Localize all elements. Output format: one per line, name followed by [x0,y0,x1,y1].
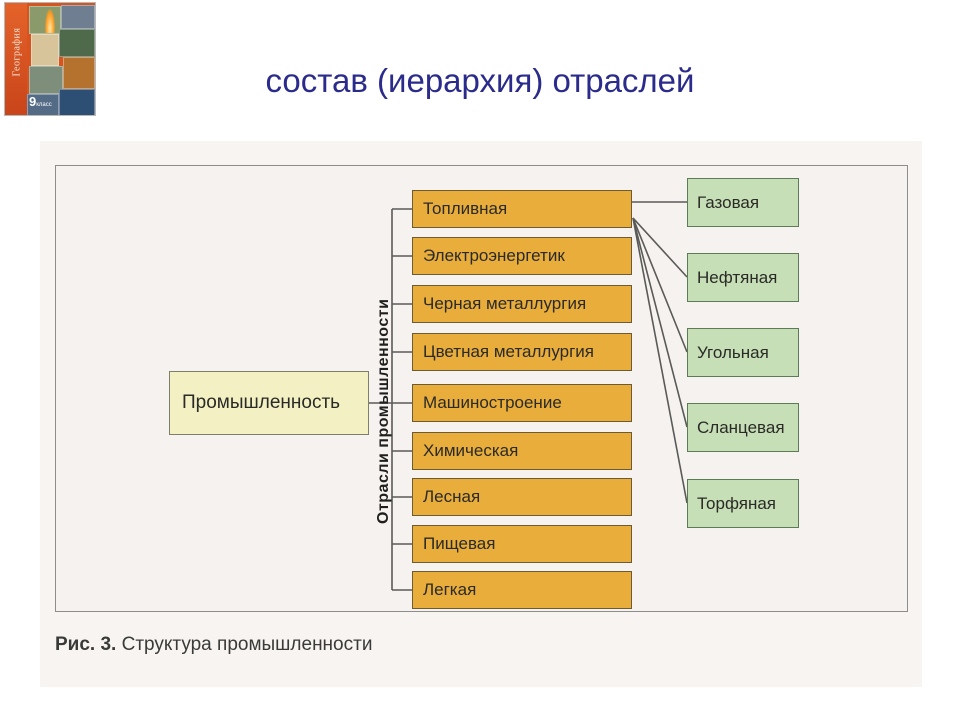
figure-caption-text: Структура промышленности [122,634,373,655]
node-label: Сланцевая [697,418,785,438]
node-label: Легкая [423,580,476,600]
node-label: Лесная [423,487,480,507]
figure-caption: Рис. 3. Структура промышленности [55,634,372,656]
node-label: Электроэнергетик [423,246,565,266]
node-leaf-ugolnaya[interactable]: Угольная [687,328,799,377]
node-leaf-slantsevaya[interactable]: Сланцевая [687,403,799,452]
page-title: состав (иерархия) отраслей [0,62,960,100]
node-leaf-torfyanaya[interactable]: Торфяная [687,479,799,528]
node-label: Нефтяная [697,268,777,288]
node-label: Цветная металлургия [423,342,594,362]
cover-photo-tile [61,5,95,29]
node-branch-khimicheskaya[interactable]: Химическая [412,432,632,470]
industry-structure-diagram: Отрасли промышленности Промышленность То… [56,166,907,611]
node-leaf-neftyanaya[interactable]: Нефтяная [687,253,799,302]
node-label: Черная металлургия [423,294,586,314]
node-label: Промышленность [182,392,340,414]
figure-panel: Отрасли промышленности Промышленность То… [55,165,908,612]
node-promyshlennost[interactable]: Промышленность [169,371,369,435]
node-label: Машиностроение [423,393,562,413]
node-label: Торфяная [697,494,776,514]
node-label: Химическая [423,441,518,461]
node-branch-legkaya[interactable]: Легкая [412,571,632,609]
node-label: Топливная [423,199,507,219]
node-branch-mashinostroenie[interactable]: Машиностроение [412,384,632,422]
axis-label-industry-branches: Отрасли промышленности [371,0,393,224]
node-branch-lesnaya[interactable]: Лесная [412,478,632,516]
figure-scan-area: Отрасли промышленности Промышленность То… [40,141,922,687]
axis-label-text: Отрасли промышленности [375,299,393,524]
cover-photo-tile [59,29,95,57]
book-grade-word: класс [36,102,52,108]
node-label: Угольная [697,343,769,363]
node-branch-chernaya-metallurgiya[interactable]: Черная металлургия [412,285,632,323]
node-branch-elektroenergetik[interactable]: Электроэнергетик [412,237,632,275]
node-branch-pishchevaya[interactable]: Пищевая [412,525,632,563]
node-leaf-gazovaya[interactable]: Газовая [687,178,799,227]
figure-caption-number: Рис. 3. [55,634,116,655]
node-branch-toplivnaya[interactable]: Топливная [412,190,632,228]
node-label: Газовая [697,193,759,213]
node-branch-tsvetnaya-metallurgiya[interactable]: Цветная металлургия [412,333,632,371]
node-label: Пищевая [423,534,495,554]
flame-icon [45,9,55,33]
